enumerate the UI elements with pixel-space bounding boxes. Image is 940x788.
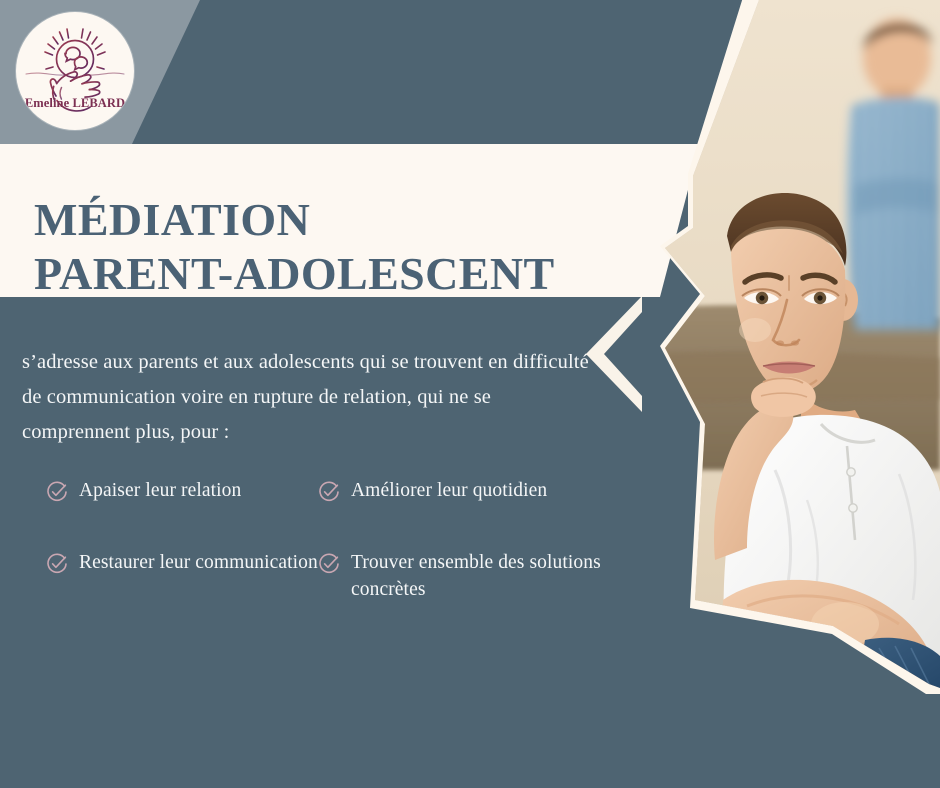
list-item-label: Restaurer leur communication — [79, 550, 318, 576]
check-circle-icon — [318, 553, 340, 575]
brand-logo-badge: Emeline LEBARD — [16, 12, 134, 130]
benefits-checklist: Apaiser leur relation Améliorer leur quo… — [46, 478, 646, 603]
page-title-line-1: MÉDIATION — [34, 194, 310, 245]
title-banner: MÉDIATION PARENT-ADOLESCENT — [0, 144, 700, 297]
poster-canvas: Emeline LEBARD MÉDIATION PARENT-ADOLESCE… — [0, 0, 940, 788]
check-circle-icon — [46, 481, 68, 503]
list-item: Restaurer leur communication — [46, 550, 318, 603]
list-item-label: Améliorer leur quotidien — [351, 478, 547, 504]
photo-panel — [607, 0, 940, 688]
list-item: Apaiser leur relation — [46, 478, 318, 504]
list-item: Améliorer leur quotidien — [318, 478, 608, 504]
list-item-label: Trouver ensemble des solutions concrètes — [351, 550, 608, 603]
brand-logo-name: Emeline LEBARD — [16, 96, 134, 111]
lead-paragraph: s’adresse aux parents et aux adolescents… — [22, 345, 602, 451]
hand-holding-sun-speech-bubbles-icon — [16, 12, 134, 130]
list-item: Trouver ensemble des solutions concrètes — [318, 550, 608, 603]
check-circle-icon — [46, 553, 68, 575]
check-circle-icon — [318, 481, 340, 503]
page-title: MÉDIATION PARENT-ADOLESCENT — [34, 193, 674, 301]
page-title-line-2: PARENT-ADOLESCENT — [34, 247, 674, 301]
teenager-with-parent-photo — [607, 0, 940, 688]
list-item-label: Apaiser leur relation — [79, 478, 241, 504]
